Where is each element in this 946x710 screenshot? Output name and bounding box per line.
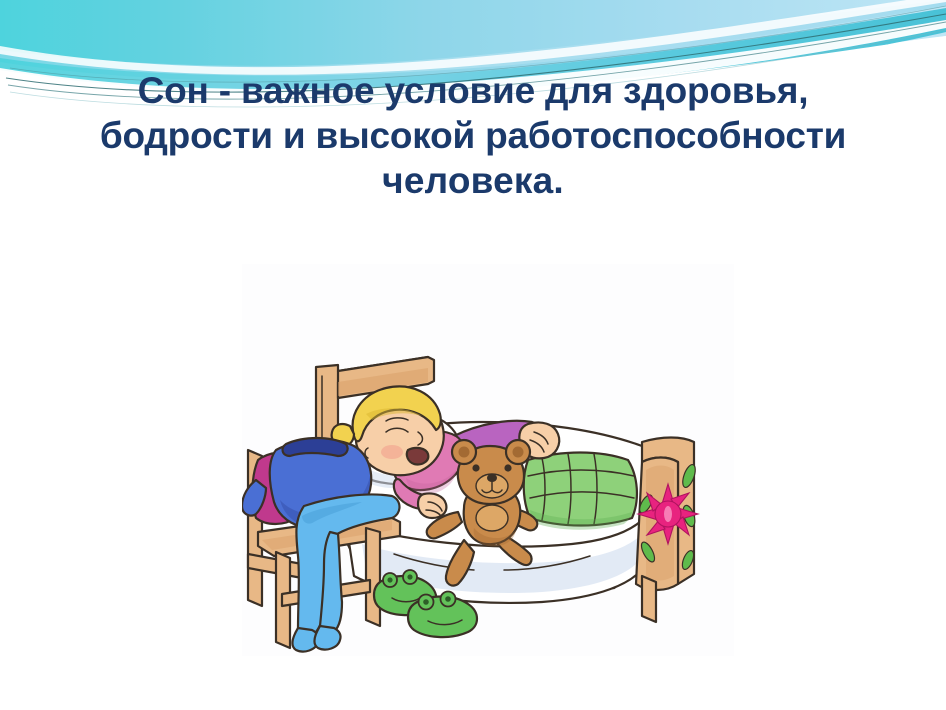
green-pillow xyxy=(524,453,637,530)
slide: Сон - важное условие для здоровья, бодро… xyxy=(0,0,946,710)
page-title: Сон - важное условие для здоровья, бодро… xyxy=(28,68,918,203)
bed-footboard xyxy=(636,438,698,591)
title-line-1: Сон - важное условие для здоровья, xyxy=(28,68,918,113)
title-line-3: человека. xyxy=(28,158,918,203)
sleeping-child-illustration: .ol { stroke:#3b3026; stroke-width:2.2; … xyxy=(242,264,734,656)
title-line-2: бодрости и высокой работоспособности xyxy=(28,113,918,158)
illustration-canvas: .ol { stroke:#3b3026; stroke-width:2.2; … xyxy=(242,264,734,656)
footboard-flower-icon xyxy=(638,484,698,544)
bed-leg-right xyxy=(642,576,656,622)
wave-white-ribbon-2 xyxy=(0,0,946,75)
wave-layer-pale xyxy=(0,0,946,76)
